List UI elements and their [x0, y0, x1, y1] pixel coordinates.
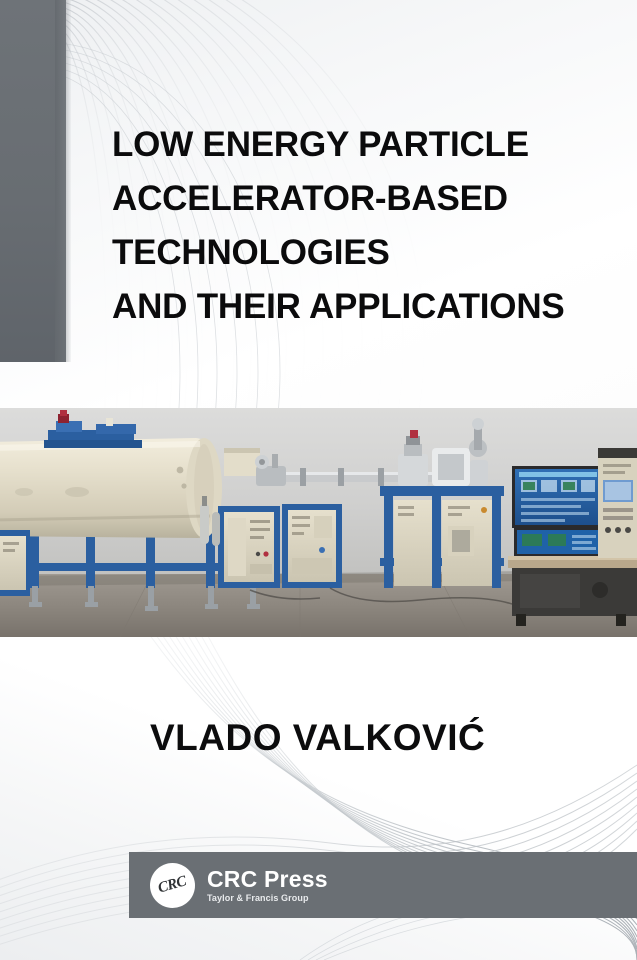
title-line-1: LOW ENERGY PARTICLE	[112, 118, 617, 172]
slate-accent-band-fade	[55, 0, 71, 362]
cover-title: LOW ENERGY PARTICLE ACCELERATOR-BASED TE…	[112, 118, 617, 334]
publisher-bar: CRC CRC Press Taylor & Francis Group	[129, 852, 637, 918]
title-line-3: TECHNOLOGIES	[112, 226, 617, 280]
publisher-name: CRC Press	[207, 867, 328, 892]
crc-logo-text: CRC	[156, 873, 188, 897]
publisher-wordmark: CRC Press Taylor & Francis Group	[207, 867, 328, 904]
title-line-2: ACCELERATOR-BASED	[112, 172, 617, 226]
book-cover: LOW ENERGY PARTICLE ACCELERATOR-BASED TE…	[0, 0, 637, 960]
author-name: VLADO VALKOVIĆ	[150, 717, 485, 759]
crc-logo-icon: CRC	[150, 863, 195, 908]
accelerator-laboratory-photo	[0, 408, 637, 637]
publisher-subtitle: Taylor & Francis Group	[207, 892, 328, 904]
title-line-4: AND THEIR APPLICATIONS	[112, 280, 617, 334]
